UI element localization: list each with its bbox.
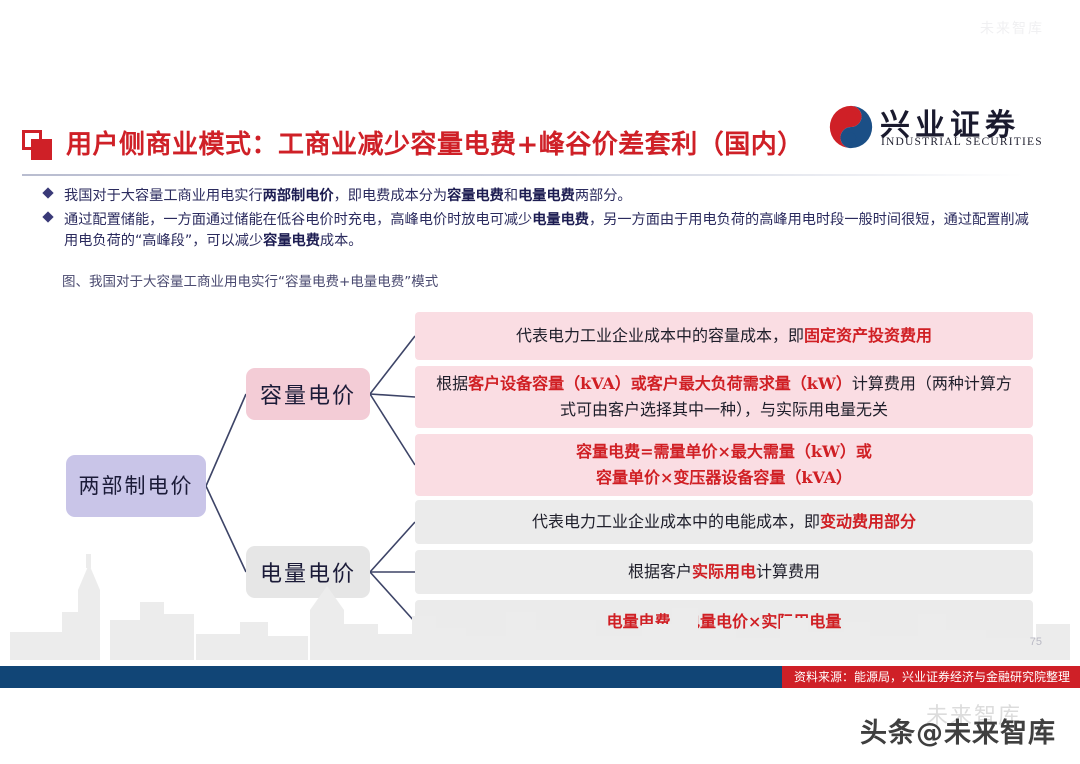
- bullet-item: 我国对于大容量工商业用电实行两部制电价，即电费成本分为容量电费和电量电费两部分。: [40, 186, 1040, 207]
- diagram-node-root: 两部制电价: [66, 455, 206, 517]
- bullet-list: 我国对于大容量工商业用电实行两部制电价，即电费成本分为容量电费和电量电费两部分。…: [40, 186, 1040, 255]
- diagram-node-energy-price: 电量电价: [246, 546, 370, 598]
- diagram-box-energy-basis: 根据客户实际用电计算费用: [415, 550, 1033, 594]
- watermark-bottom-right: 头条@未来智库: [860, 711, 1056, 750]
- diagram-node-capacity-price: 容量电价: [246, 368, 370, 420]
- slide-title-row: 用户侧商业模式：工商业减少容量电费+峰谷价差套利（国内）: [0, 124, 1080, 172]
- bullet-item: 通过配置储能，一方面通过储能在低谷电价时充电，高峰电价时放电可减少电量电费，另一…: [40, 210, 1040, 252]
- bullet-text: 通过配置储能，一方面通过储能在低谷电价时充电，高峰电价时放电可减少电量电费，另一…: [64, 212, 1029, 249]
- figure-caption: 图、我国对于大容量工商业用电实行“容量电费+电量电费”模式: [62, 270, 438, 290]
- square-marker-icon: [22, 130, 56, 164]
- diamond-bullet-icon: [42, 187, 53, 198]
- bullet-text: 我国对于大容量工商业用电实行两部制电价，即电费成本分为容量电费和电量电费两部分。: [64, 188, 632, 204]
- diagram-box-capacity-formula: 容量电费=需量单价×最大需量（kW）或容量单价×变压器设备容量（kVA）: [415, 434, 1033, 496]
- slide-canvas: 未来智库 兴业证券 INDUSTRIAL SECURITIES 用户侧商业模式：…: [0, 0, 1080, 764]
- tariff-structure-diagram: 两部制电价 容量电价 电量电价 代表电力工业企业成本中的容量成本，即固定资产投资…: [0, 300, 1080, 650]
- watermark-top-right: 未来智库: [980, 18, 1044, 38]
- diagram-box-energy-formula: 电量电费=电量电价×实际用电量: [415, 600, 1033, 644]
- page-title: 用户侧商业模式：工商业减少容量电费+峰谷价差套利（国内）: [66, 124, 804, 161]
- diagram-box-capacity-basis: 根据客户设备容量（kVA）或客户最大负荷需求量（kW）计算费用（两种计算方式可由…: [415, 366, 1033, 428]
- title-divider: [22, 174, 1024, 176]
- diagram-box-capacity-cost: 代表电力工业企业成本中的容量成本，即固定资产投资费用: [415, 312, 1033, 360]
- diamond-bullet-icon: [42, 211, 53, 222]
- source-note: 资料来源：能源局，兴业证券经济与金融研究院整理: [782, 666, 1080, 688]
- diagram-box-energy-cost: 代表电力工业企业成本中的电能成本，即变动费用部分: [415, 500, 1033, 544]
- page-number: 75: [1030, 636, 1042, 648]
